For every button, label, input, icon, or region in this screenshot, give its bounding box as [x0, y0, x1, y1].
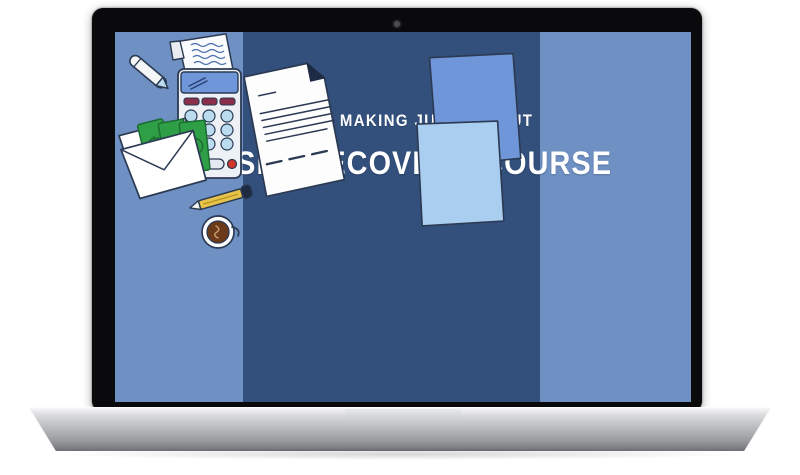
pencil-icon	[188, 184, 253, 214]
laptop-drop-shadow	[60, 448, 740, 460]
paper-blue-light-icon	[408, 114, 512, 233]
pen-icon	[128, 53, 172, 92]
coffee-cup-icon	[202, 216, 239, 248]
laptop-screen[interactable]: MONEY MAKING JUGGERNAUT ASSET RECOVERY C…	[115, 32, 691, 402]
screenshot-canvas: MONEY MAKING JUGGERNAUT ASSET RECOVERY C…	[0, 0, 800, 475]
course-illustration	[115, 32, 691, 402]
laptop-base-notch	[345, 409, 461, 418]
laptop-lid: MONEY MAKING JUGGERNAUT ASSET RECOVERY C…	[92, 8, 702, 412]
document-white-icon	[243, 61, 345, 197]
webcam-icon	[394, 21, 400, 27]
